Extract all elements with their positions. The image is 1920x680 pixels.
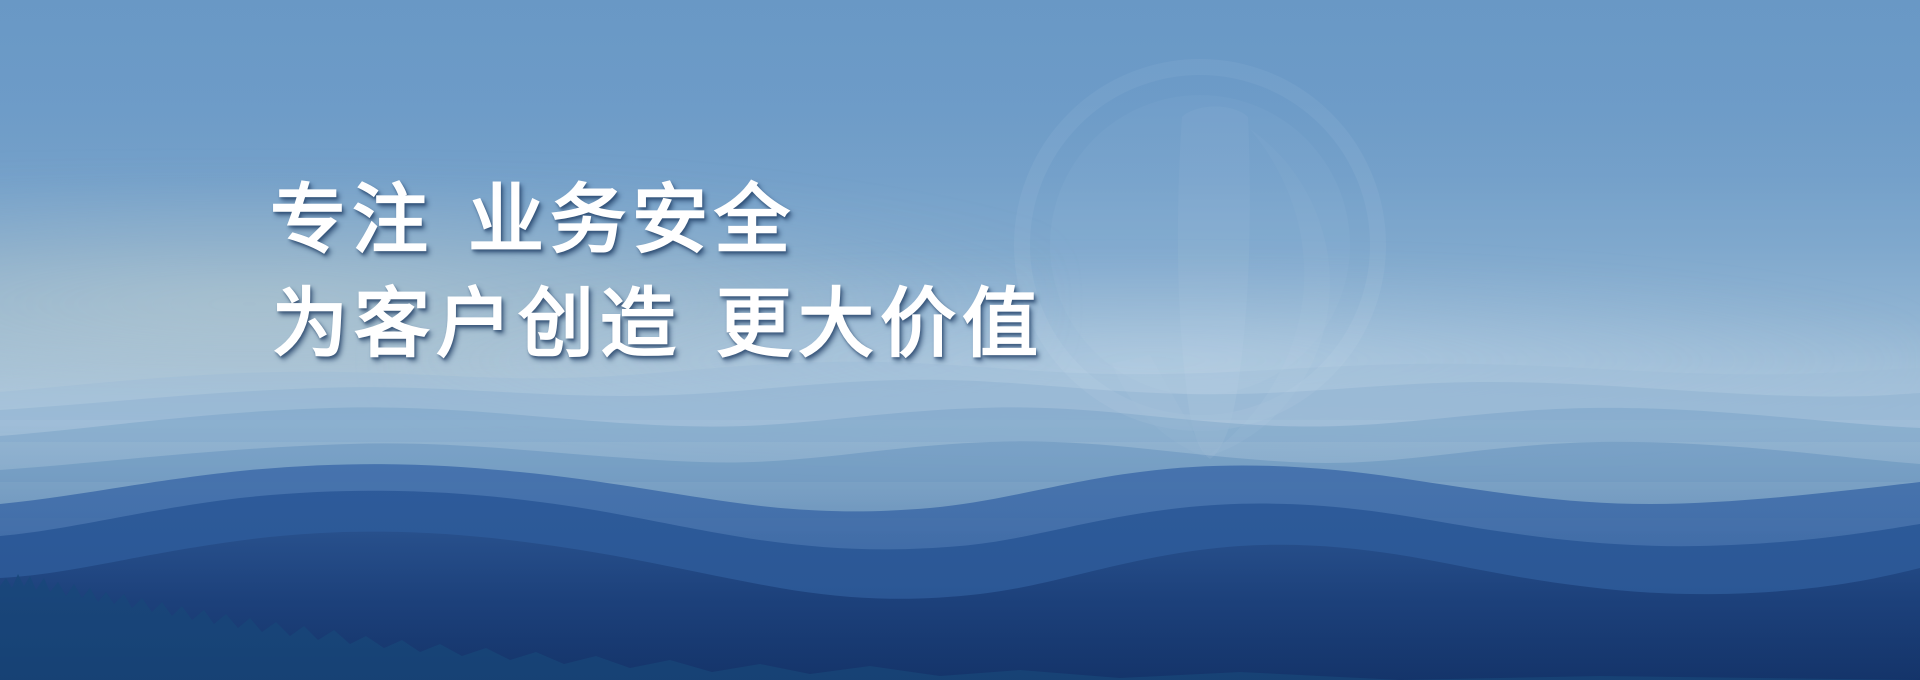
hero-banner: 专注业务安全 为客户创造更大价值 xyxy=(0,0,1920,680)
headline-line1-part2: 业务安全 xyxy=(468,175,796,264)
headline-line2-part2: 更大价值 xyxy=(716,279,1044,368)
headline-line-2: 为客户创造更大价值 xyxy=(270,272,1270,376)
headline-line1-part1: 专注 xyxy=(270,175,434,264)
pine-tree-silhouettes xyxy=(0,556,1920,680)
headline-block: 专注业务安全 为客户创造更大价值 xyxy=(270,168,1270,376)
headline-line-1: 专注业务安全 xyxy=(270,168,1270,272)
headline-line2-part1: 为客户创造 xyxy=(272,279,682,368)
